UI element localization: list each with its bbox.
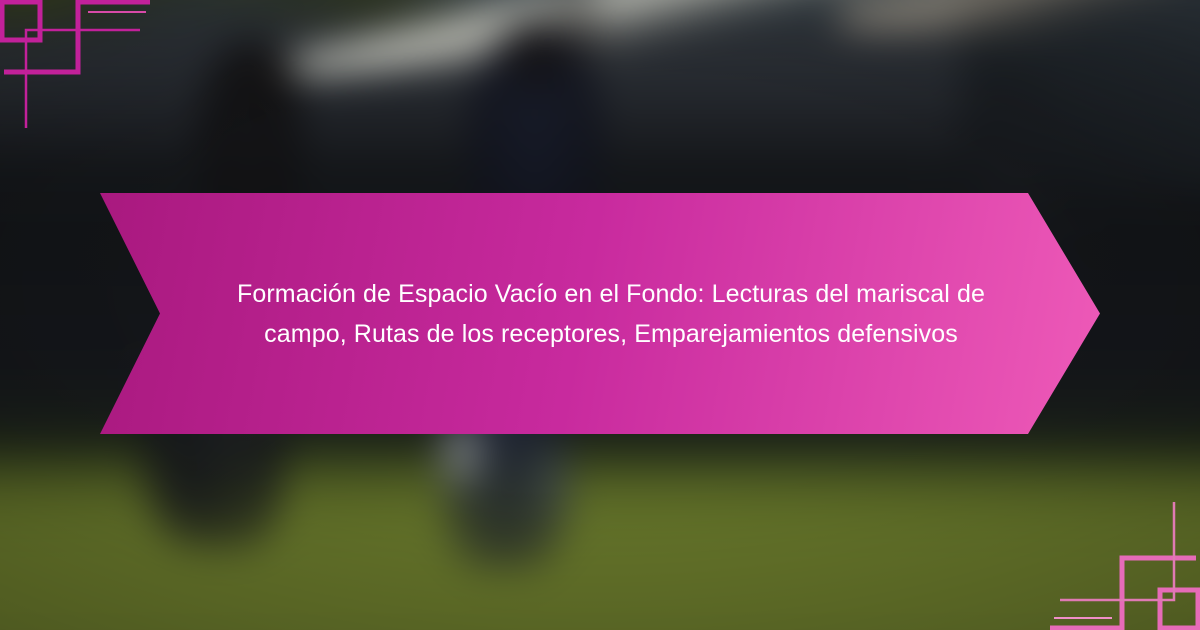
headline-text: Formación de Espacio Vacío en el Fondo: … — [209, 274, 991, 354]
banner-card: Formación de Espacio Vacío en el Fondo: … — [0, 0, 1200, 630]
headline-line-2: campo, Rutas de los receptores, Empareja… — [264, 320, 958, 348]
headline-banner: Formación de Espacio Vacío en el Fondo: … — [100, 193, 1100, 434]
headline-line-1: Formación de Espacio Vacío en el Fondo: … — [237, 280, 985, 308]
